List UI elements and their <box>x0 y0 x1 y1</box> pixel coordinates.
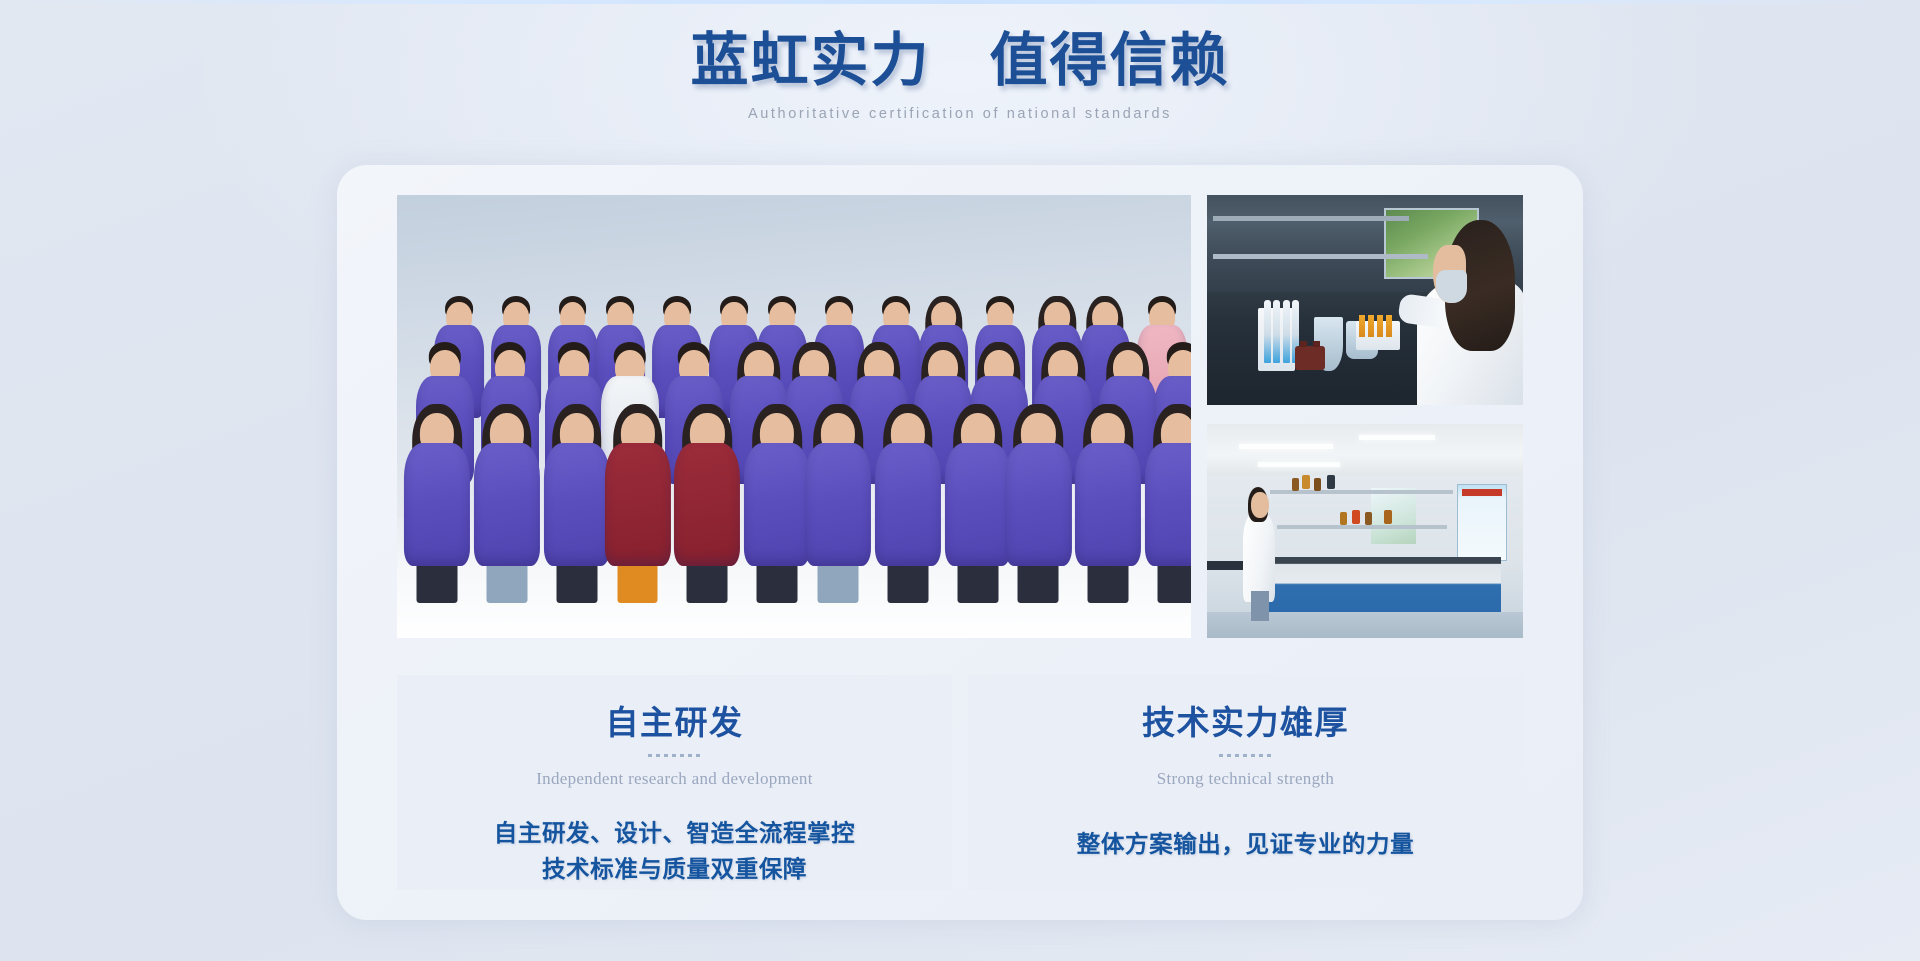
member-legs <box>957 560 998 603</box>
technician-jeans <box>1251 591 1269 621</box>
reagent-bottle-icon <box>1308 346 1325 370</box>
reagent-shelf-bar <box>1277 525 1448 529</box>
card-body-line1: 整体方案输出，见证专业的力量 <box>994 827 1497 863</box>
member-legs <box>817 560 858 603</box>
reagent-bottle-icon <box>1327 475 1335 489</box>
member-legs <box>687 560 728 603</box>
feature-card-technical-strength[interactable]: 技术实力雄厚 Strong technical strength 整体方案输出，… <box>968 675 1523 890</box>
page-title: 蓝虹实力 值得信赖 <box>0 26 1920 97</box>
card-subtitle: Strong technical strength <box>994 769 1497 789</box>
member-purple-jacket <box>1145 443 1191 566</box>
ceiling-light <box>1258 462 1340 467</box>
lab-ceiling <box>1207 424 1523 475</box>
team-member <box>404 404 470 580</box>
member-purple-jacket <box>604 443 670 566</box>
card-body-line1: 自主研发、设计、智造全流程掌控 <box>423 816 926 852</box>
page-title-part2: 值得信赖 <box>990 28 1230 93</box>
feature-cards: 自主研发 Independent research and developmen… <box>397 675 1523 890</box>
ceiling-light <box>1239 444 1334 449</box>
card-title: 自主研发 <box>423 705 926 745</box>
reagent-shelf-bar <box>1270 490 1453 494</box>
reagent-bottle-icon <box>1314 478 1321 491</box>
ceiling-light <box>1359 435 1435 440</box>
member-legs <box>1158 560 1191 603</box>
top-light-streak <box>0 0 1920 4</box>
lab-upper-shelf <box>1213 216 1409 221</box>
reagent-bottle-icon <box>1302 475 1310 489</box>
lab-window <box>1371 488 1415 544</box>
white-lab-coat <box>1243 514 1275 602</box>
member-legs <box>486 560 527 603</box>
member-legs <box>757 560 798 603</box>
member-purple-jacket <box>875 443 941 566</box>
team-member <box>805 404 871 580</box>
sample-tube <box>1359 315 1365 337</box>
reagent-bottle-icon <box>1292 478 1299 491</box>
member-purple-jacket <box>674 443 740 566</box>
sample-tube <box>1386 315 1392 337</box>
reagent-bottle-icon <box>1384 510 1392 524</box>
card-body: 自主研发、设计、智造全流程掌控 技术标准与质量双重保障 <box>423 816 926 889</box>
page-subtitle: Authoritative certification of national … <box>0 106 1920 122</box>
team-member <box>1005 404 1071 580</box>
team-member <box>604 404 670 580</box>
member-legs <box>417 560 458 603</box>
face-mask-icon <box>1436 270 1468 303</box>
team-group-photo <box>397 195 1191 638</box>
team-member <box>674 404 740 580</box>
sample-tubes <box>1359 315 1392 337</box>
member-purple-jacket <box>945 443 1011 566</box>
dashed-divider <box>648 754 702 757</box>
pipette-icon <box>1273 300 1280 363</box>
content-panel: 自主研发 Independent research and developmen… <box>337 165 1583 920</box>
feature-card-independent-rd[interactable]: 自主研发 Independent research and developmen… <box>397 675 952 890</box>
member-legs <box>1018 560 1059 603</box>
member-legs <box>887 560 928 603</box>
card-body: 整体方案输出，见证专业的力量 <box>994 827 1497 863</box>
team-member <box>1075 404 1141 580</box>
reagent-bottle-icon <box>1365 512 1372 525</box>
card-body-line2: 技术标准与质量双重保障 <box>423 852 926 888</box>
team-member <box>544 404 610 580</box>
member-purple-jacket <box>544 443 610 566</box>
member-legs <box>1088 560 1129 603</box>
laboratory-room-photo <box>1207 424 1523 638</box>
team-member <box>1145 404 1191 580</box>
safety-poster <box>1457 484 1508 561</box>
member-purple-jacket <box>404 443 470 566</box>
team-member <box>474 404 540 580</box>
sample-tube <box>1368 315 1374 337</box>
team-member <box>945 404 1011 580</box>
member-purple-jacket <box>1075 443 1141 566</box>
reagent-bottle-icon <box>1340 512 1347 525</box>
pipette-icon <box>1264 300 1271 363</box>
member-legs <box>556 560 597 603</box>
member-purple-jacket <box>474 443 540 566</box>
card-subtitle: Independent research and development <box>423 769 926 789</box>
technician-figure <box>1242 484 1283 621</box>
reagent-bottle-icon <box>1352 510 1360 524</box>
technician-face <box>1251 492 1269 518</box>
member-purple-jacket <box>805 443 871 566</box>
card-title: 技术实力雄厚 <box>994 705 1497 745</box>
member-legs <box>617 560 658 603</box>
sample-tube <box>1377 315 1383 337</box>
lab-technician-photo <box>1207 195 1523 405</box>
team-member <box>875 404 941 580</box>
dashed-divider <box>1219 754 1273 757</box>
technician-figure <box>1397 212 1523 405</box>
page-header: 蓝虹实力 值得信赖 Authoritative certification of… <box>0 26 1920 122</box>
team-member <box>744 404 810 580</box>
media-gallery <box>397 195 1523 638</box>
member-purple-jacket <box>744 443 810 566</box>
pipette-icon <box>1283 300 1290 363</box>
member-purple-jacket <box>1005 443 1071 566</box>
page-title-part1: 蓝虹实力 <box>690 28 930 93</box>
